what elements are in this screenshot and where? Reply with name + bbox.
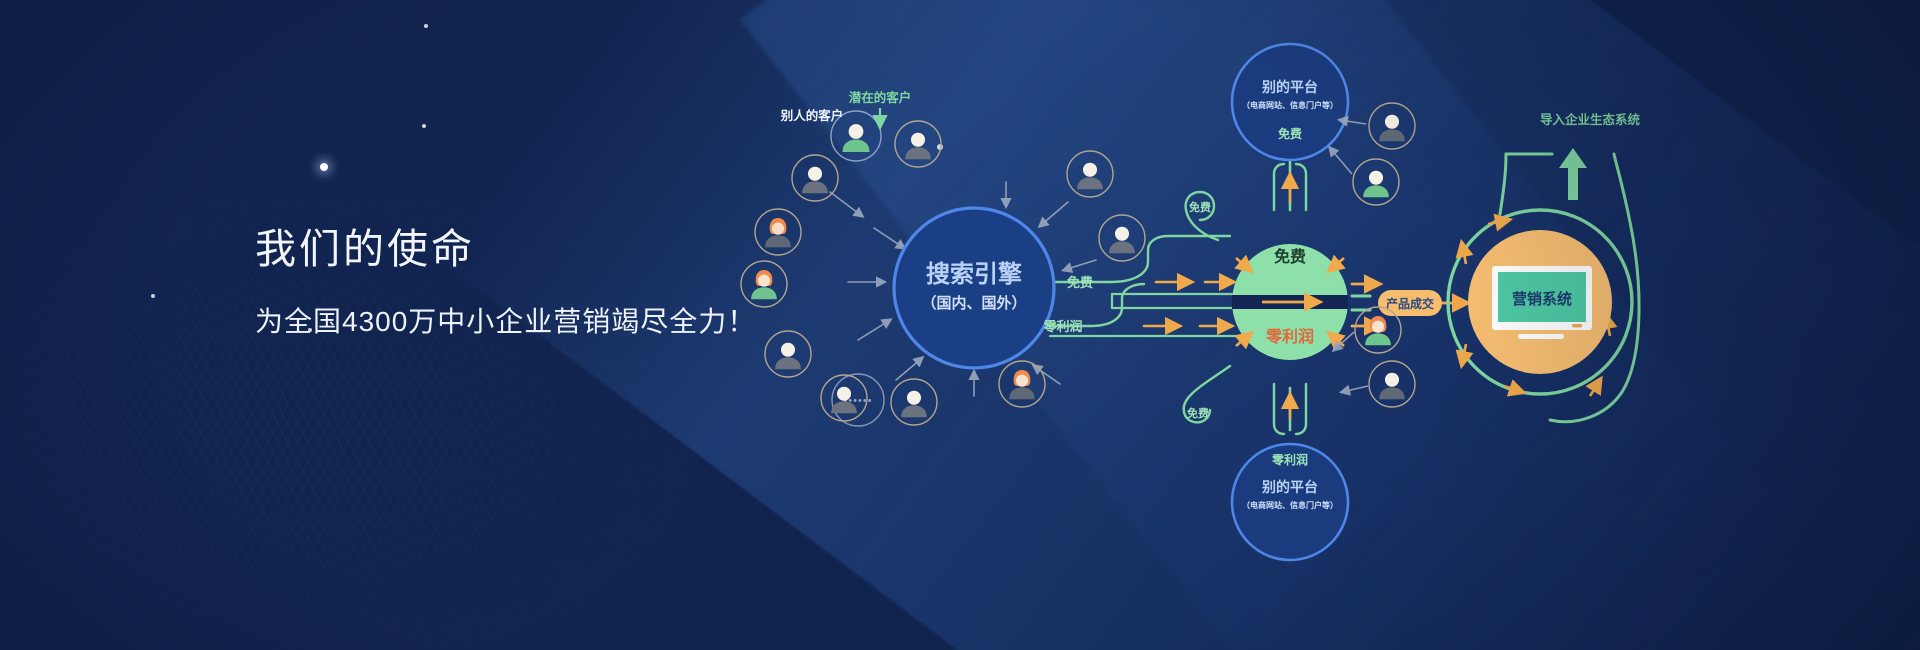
node-central-hub[interactable]: 免费 零利润 [1232,244,1348,360]
avatar[interactable] [792,155,838,201]
avatar-glyph [1379,373,1405,400]
avatar-glyph [1365,316,1391,345]
page-title: 我们的使命 [255,225,756,274]
avatar-glyph [901,391,927,418]
avatar-glyph [1009,370,1035,399]
node-platform-top[interactable]: 别的平台 （电商网站、信息门户等） 免费 [1232,44,1348,160]
platform-top-title: 别的平台 [1261,79,1318,95]
hub-label-free: 免费 [1274,247,1306,266]
node-platform-bottom[interactable]: 零利润 别的平台 （电商网站、信息门户等） [1232,444,1348,560]
avatar-glyph [802,167,828,194]
label-import-ecosystem: 导入企业生态系统 [1540,112,1641,127]
avatar[interactable] [999,361,1045,407]
star-dot [424,24,428,28]
label-others-customers: 别人的客户 [780,108,844,123]
label-potential-customers: 潜在的客户 [849,90,912,105]
avatar-glyph [1363,171,1389,198]
avatar[interactable] [1067,151,1113,197]
avatar[interactable] [1369,361,1415,407]
search-engine-title: 搜索引擎 [926,260,1022,288]
flow-label-free: 免费 [1067,275,1093,290]
avatar-glyph [905,133,931,160]
platform-bottom-title: 别的平台 [1261,479,1318,495]
connector-label-free-top: 免费 [1189,200,1211,214]
avatar[interactable] [1353,159,1399,205]
marketing-system-label: 营销系统 [1512,290,1572,308]
connector-label-free-bottom: 免费 [1187,406,1209,420]
platform-top-flow: 免费 [1278,126,1302,141]
node-marketing-system[interactable]: 营销系统 [1468,230,1612,374]
star-dot [320,163,328,171]
deal-badge-label: 产品成交 [1386,296,1434,311]
platform-top-subtitle: （电商网站、信息门户等） [1242,100,1338,110]
platform-bottom-flow: 零利润 [1271,452,1308,467]
avatar-glyph [1109,227,1135,254]
search-engine-subtitle: （国内、国外） [921,294,1026,312]
node-search-engine[interactable]: 搜索引擎 （国内、国外） [894,208,1054,368]
avatar[interactable] [1355,307,1401,353]
flow-label-zero-profit: 零利润 [1042,319,1082,334]
hub-label-zero-profit: 零利润 [1265,327,1314,346]
hero-banner: 我们的使命 为全国4300万中小企业营销竭尽全力！ [0,0,1920,650]
star-dot [422,124,426,128]
marketing-ecosystem-diagram: 搜索引擎 （国内、国外） 免费 零利润 免费 免费 免费 零利润 [900,130,1620,530]
avatar-glyph [1077,163,1103,190]
page-subtitle: 为全国4300万中小企业营销竭尽全力！ [255,304,756,339]
platform-bottom-subtitle: （电商网站、信息门户等） [1242,500,1338,510]
avatar[interactable] [891,379,937,425]
headline-block: 我们的使命 为全国4300万中小企业营销竭尽全力！ [255,225,756,339]
avatar[interactable] [1099,215,1145,261]
deal-badge[interactable]: 产品成交 [1378,290,1442,316]
node-more-customers: •••••• [832,374,884,426]
